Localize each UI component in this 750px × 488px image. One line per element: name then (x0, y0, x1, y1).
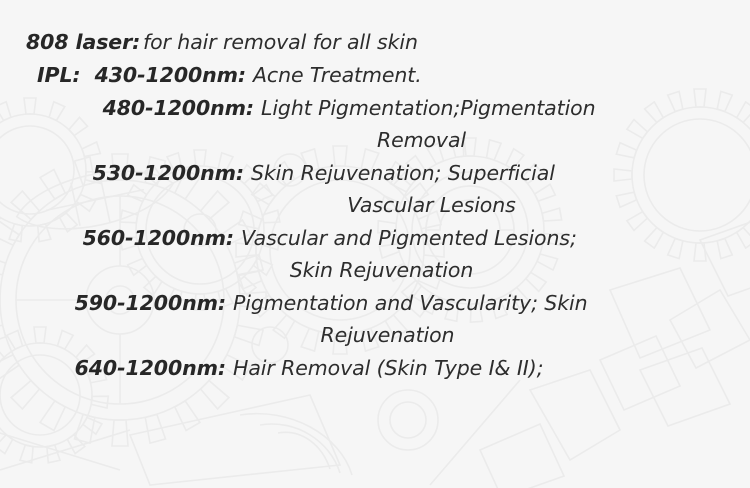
spec-description-line-1: Pigmentation and Vascularity; Skin (233, 291, 587, 315)
list-item: 808 laser: for hair removal for all skin (26, 26, 732, 58)
spec-description-ipl-640: Hair Removal (Skin Type I& II); (226, 352, 732, 384)
list-item: 640-1200nm: Hair Removal (Skin Type I& I… (26, 352, 732, 384)
list-item: 530-1200nm: Skin Rejuvenation; Superfici… (26, 157, 732, 221)
specification-sheet: 808 laser: for hair removal for all skin… (0, 0, 750, 488)
spec-label-ipl-640: 640-1200nm: (26, 352, 226, 384)
spec-label-ipl-480: 480-1200nm: (26, 92, 254, 124)
spec-description-808-laser: for hair removal for all skin (136, 26, 732, 58)
spec-list: 808 laser: for hair removal for all skin… (0, 0, 750, 384)
spec-description-ipl-530: Skin Rejuvenation; Superficial Vascular … (244, 157, 732, 221)
spec-description-line-1: Light Pigmentation;Pigmentation (261, 96, 596, 120)
spec-description-line-1: Vascular and Pigmented Lesions; (241, 226, 577, 250)
spec-description-ipl-590: Pigmentation and Vascularity; Skin Rejuv… (226, 287, 732, 351)
spec-description-continuation: Removal (261, 124, 732, 156)
list-item: 560-1200nm: Vascular and Pigmented Lesio… (26, 222, 732, 286)
spec-description-continuation: Skin Rejuvenation (241, 254, 732, 286)
list-item: 480-1200nm: Light Pigmentation;Pigmentat… (26, 92, 732, 156)
spec-description-ipl-430: Acne Treatment. (246, 59, 732, 91)
spec-label-808-laser: 808 laser: (26, 26, 136, 58)
spec-label-ipl-530: 530-1200nm: (26, 157, 244, 189)
spec-label-ipl-560: 560-1200nm: (26, 222, 234, 254)
spec-description-line-1: Skin Rejuvenation; Superficial (251, 161, 555, 185)
spec-label-ipl-430: IPL: 430-1200nm: (26, 59, 246, 91)
spec-description-ipl-480: Light Pigmentation;Pigmentation Removal (254, 92, 732, 156)
list-item: 590-1200nm: Pigmentation and Vascularity… (26, 287, 732, 351)
spec-description-continuation: Vascular Lesions (251, 189, 732, 221)
spec-label-ipl-590: 590-1200nm: (26, 287, 226, 319)
list-item: IPL: 430-1200nm: Acne Treatment. (26, 59, 732, 91)
spec-description-continuation: Rejuvenation (233, 319, 732, 351)
spec-description-ipl-560: Vascular and Pigmented Lesions; Skin Rej… (234, 222, 732, 286)
